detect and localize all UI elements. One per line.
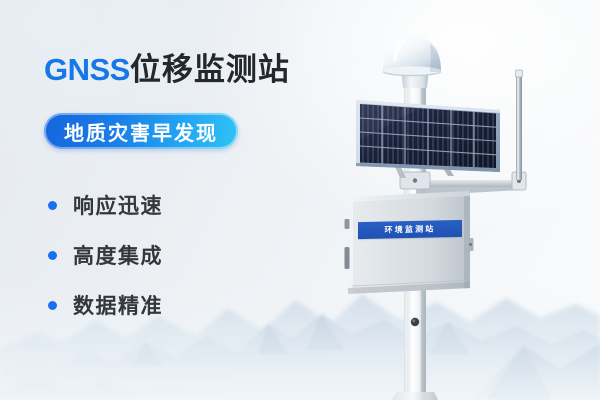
headline-english: GNSS (44, 52, 130, 87)
bullet-dot-icon (48, 251, 57, 260)
list-item: 响应迅速 (48, 180, 163, 230)
feature-label: 数据精准 (73, 290, 163, 320)
page-title: GNSS位移监测站 (44, 54, 290, 85)
feature-list: 响应迅速 高度集成 数据精准 (48, 180, 163, 330)
bullet-dot-icon (48, 201, 57, 210)
promo-banner: 环境监测站 GNSS位移监测站 地质灾害早发现 响应迅速 高度集成 数据精准 (0, 0, 600, 400)
feature-label: 高度集成 (73, 240, 163, 270)
enclosure-nameplate: 环境监测站 (358, 220, 462, 239)
badge-label: 地质灾害早发现 (64, 117, 218, 146)
list-item: 高度集成 (48, 230, 163, 280)
list-item: 数据精准 (48, 280, 163, 330)
status-badge: 地质灾害早发现 (44, 113, 238, 149)
bullet-dot-icon (48, 301, 57, 310)
headline-chinese: 位移监测站 (130, 52, 290, 87)
feature-label: 响应迅速 (73, 190, 163, 220)
